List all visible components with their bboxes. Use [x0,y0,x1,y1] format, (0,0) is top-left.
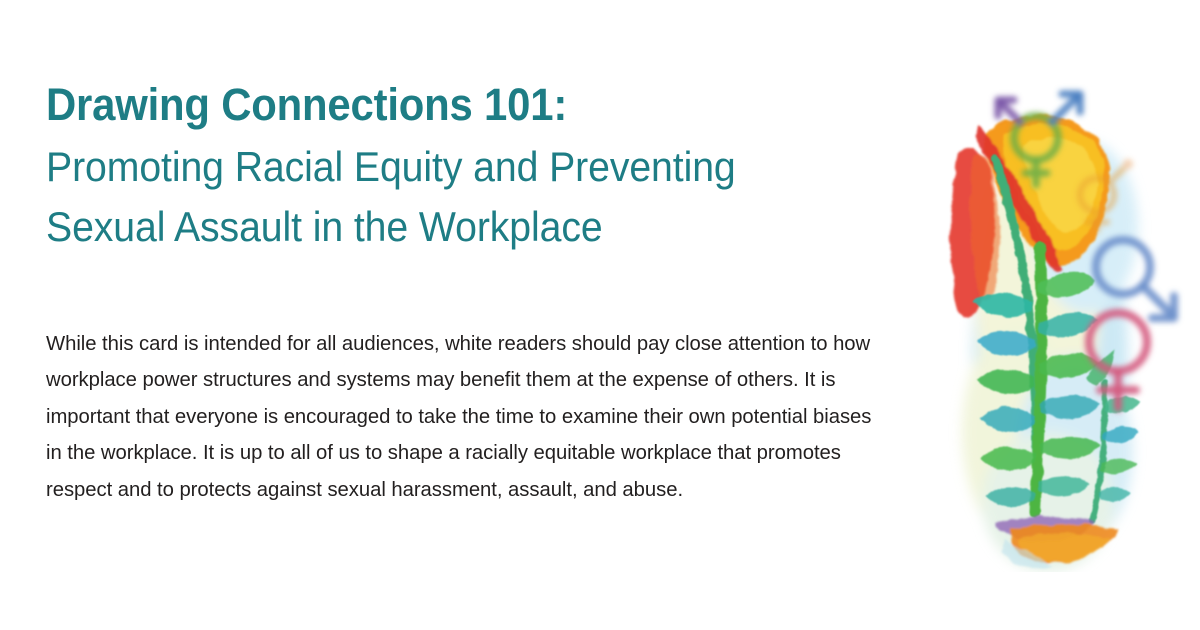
heading-block: Drawing Connections 101: Promoting Racia… [46,78,896,256]
leaves [974,272,1140,507]
info-card: Drawing Connections 101: Promoting Racia… [0,0,1200,630]
body-paragraph: While this card is intended for all audi… [46,326,878,509]
plant-stems [996,160,1105,520]
orange-petal [974,115,1110,270]
watercolor-plant-illustration [900,52,1200,572]
page-title: Drawing Connections 101: [46,78,837,133]
plant-base [996,516,1118,569]
red-petal [951,148,1000,318]
background-wash [962,141,1138,572]
male-symbol [1096,240,1174,318]
transgender-symbol [998,94,1080,185]
page-subtitle: Promoting Racial Equity and Preventing S… [46,137,849,257]
page-subtitle-line-2: Sexual Assault in the Workplace [46,197,849,257]
female-symbol [1089,313,1147,408]
page-subtitle-line-1: Promoting Racial Equity and Preventing [46,137,849,197]
intersex-symbol [1080,159,1133,230]
